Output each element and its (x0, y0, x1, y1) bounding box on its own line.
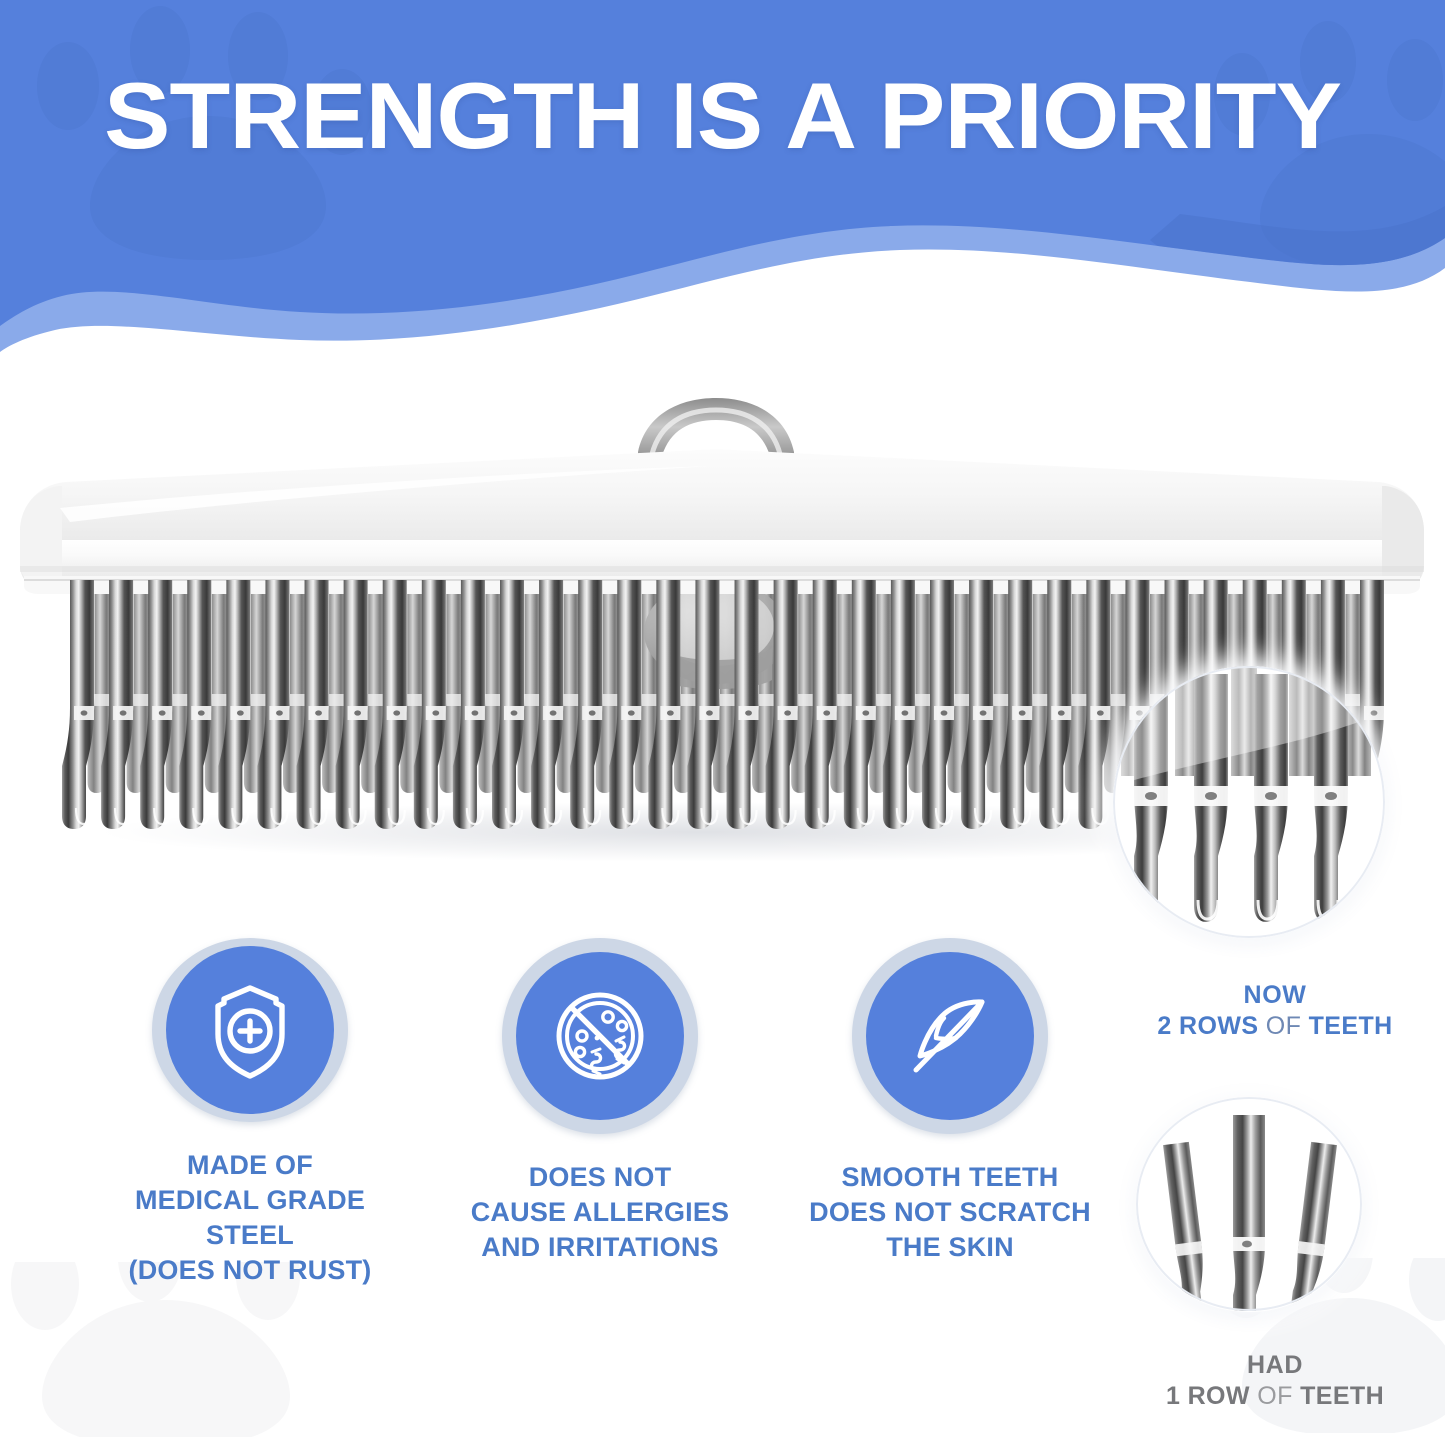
callout-now-line2: 2 ROWS OF TEETH (1110, 1011, 1440, 1042)
callout-now: NOW 2 ROWS OF TEETH (1110, 980, 1440, 1041)
callout-now-of: OF (1258, 1012, 1308, 1040)
feature-caption-1: MADE OF MEDICAL GRADE STEEL (DOES NOT RU… (100, 1148, 400, 1288)
callout-had-teeth: TEETH (1300, 1382, 1384, 1410)
feature-made-of-medical-grade-steel: MADE OF MEDICAL GRADE STEEL (DOES NOT RU… (100, 938, 400, 1288)
feature-smooth-teeth: SMOOTH TEETH DOES NOT SCRATCH THE SKIN (800, 938, 1100, 1288)
callout-now-teeth: TEETH (1309, 1012, 1393, 1040)
magnifier-had-one-row (1136, 1097, 1362, 1312)
feature-icon-disc-1 (166, 946, 334, 1114)
callout-now-rows: 2 ROWS (1157, 1012, 1258, 1040)
callout-had: HAD 1 ROW OF TEETH (1110, 1350, 1440, 1411)
callout-had-line1: HAD (1110, 1350, 1440, 1381)
feature-icon-disc-3 (866, 952, 1034, 1120)
comb-white-body (20, 449, 1424, 594)
header-banner: STRENGTH IS A PRIORITY (0, 0, 1445, 360)
no-bacteria-icon (548, 984, 652, 1088)
feature-caption-2-line3: AND IRRITATIONS (471, 1230, 730, 1265)
feature-caption-2-line1: DOES NOT (471, 1160, 730, 1195)
feature-does-not-cause-allergies: DOES NOT CAUSE ALLERGIES AND IRRITATIONS (450, 938, 750, 1288)
feature-caption-2-line2: CAUSE ALLERGIES (471, 1195, 730, 1230)
feature-caption-1-line2: MEDICAL GRADE STEEL (100, 1183, 400, 1253)
callout-had-rows: 1 ROW (1166, 1382, 1250, 1410)
feature-icon-disc-2 (516, 952, 684, 1120)
feature-caption-1-line3: (DOES NOT RUST) (100, 1253, 400, 1288)
feature-caption-1-line1: MADE OF (100, 1148, 400, 1183)
magnifier-now-two-rows (1113, 666, 1385, 938)
callout-had-of: OF (1250, 1382, 1300, 1410)
shield-plus-icon (198, 978, 302, 1082)
features-row: MADE OF MEDICAL GRADE STEEL (DOES NOT RU… (100, 938, 1100, 1288)
callout-now-line1: NOW (1110, 980, 1440, 1011)
callout-had-line2: 1 ROW OF TEETH (1110, 1381, 1440, 1412)
feature-caption-3: SMOOTH TEETH DOES NOT SCRATCH THE SKIN (809, 1160, 1091, 1265)
feature-caption-2: DOES NOT CAUSE ALLERGIES AND IRRITATIONS (471, 1160, 730, 1265)
feature-icon-ring-1 (152, 938, 348, 1122)
feature-caption-3-line3: THE SKIN (809, 1230, 1091, 1265)
page-title: STRENGTH IS A PRIORITY (0, 62, 1445, 170)
feature-caption-3-line1: SMOOTH TEETH (809, 1160, 1091, 1195)
banner-wave-main (0, 0, 1445, 360)
feature-icon-ring-3 (852, 938, 1048, 1134)
background-paw-watermark-bottom-left (0, 1262, 410, 1437)
feature-caption-3-line2: DOES NOT SCRATCH (809, 1195, 1091, 1230)
feature-icon-ring-2 (502, 938, 698, 1134)
feather-icon (898, 984, 1002, 1088)
